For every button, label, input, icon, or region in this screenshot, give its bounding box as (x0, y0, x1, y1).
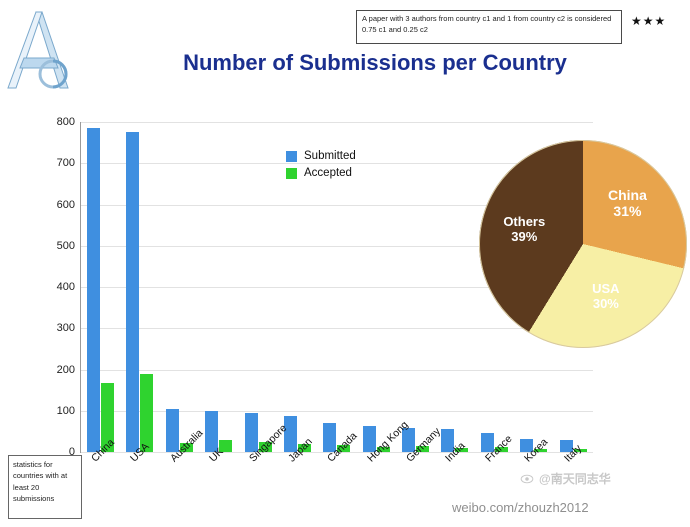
legend-swatch-accepted (286, 168, 297, 179)
institution-logo (6, 8, 78, 96)
y-axis-tick: 200 (39, 364, 75, 376)
y-axis-tick: 300 (39, 322, 75, 334)
weibo-url: weibo.com/zhouzh2012 (452, 500, 589, 515)
pie-label-value: 31% (582, 203, 672, 219)
pie-label-name: USA (592, 281, 619, 296)
bar-group (441, 122, 469, 452)
y-axis-tick: 500 (39, 240, 75, 252)
legend-label-accepted: Accepted (304, 167, 352, 179)
bar-group (245, 122, 273, 452)
chart-area: 0100200300400500600700800 ChinaUSAAustra… (0, 110, 690, 490)
slide-canvas: A paper with 3 authors from country c1 a… (0, 0, 690, 527)
y-axis-tick: 600 (39, 199, 75, 211)
note-box: A paper with 3 authors from country c1 a… (356, 10, 622, 44)
bar-group (363, 122, 391, 452)
pie-chart: China31%USA30%Others39% (479, 140, 687, 348)
bar-group (166, 122, 194, 452)
bar-submitted (126, 132, 139, 452)
stats-note-box: statistics for countries with at least 2… (8, 455, 82, 519)
weibo-handle: @南天同志华 (539, 470, 611, 487)
bar-group (205, 122, 233, 452)
pie-label-value: 30% (561, 297, 651, 312)
y-axis-tick: 400 (39, 281, 75, 293)
legend-item-submitted: Submitted (286, 150, 356, 162)
rating-stars: ★★★ (631, 14, 666, 28)
bar-group (402, 122, 430, 452)
y-axis-tick: 700 (39, 157, 75, 169)
legend-label-submitted: Submitted (304, 150, 356, 162)
bar-group (126, 122, 154, 452)
pie-label-name: China (608, 187, 647, 203)
chart-legend: Submitted Accepted (286, 150, 356, 184)
pie-label-name: Others (503, 214, 545, 229)
eye-icon (520, 472, 534, 486)
y-axis-tick: 100 (39, 405, 75, 417)
pie-label: Others39% (479, 215, 569, 245)
page-title: Number of Submissions per Country (140, 50, 610, 76)
pie-label-value: 39% (479, 230, 569, 245)
bar-chart-plot: 0100200300400500600700800 ChinaUSAAustra… (80, 122, 593, 453)
weibo-watermark: @南天同志华 (520, 470, 611, 487)
legend-item-accepted: Accepted (286, 167, 356, 179)
y-axis-tick: 800 (39, 116, 75, 128)
pie-label: USA30% (561, 282, 651, 312)
legend-swatch-submitted (286, 151, 297, 162)
pie-label: China31% (582, 187, 672, 219)
bar-submitted (87, 128, 100, 452)
bar-group (87, 122, 115, 452)
